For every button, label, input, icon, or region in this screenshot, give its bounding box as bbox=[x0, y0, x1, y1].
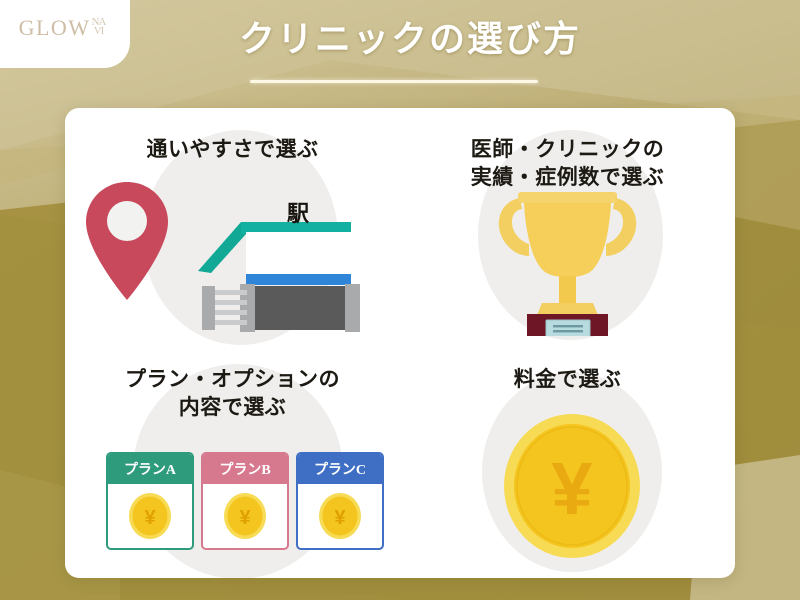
panel-plan-options-title: プラン・オプションの 内容で選ぶ bbox=[65, 366, 400, 421]
plan-card-b[interactable]: プランB ¥ bbox=[201, 452, 289, 550]
plan-card-c-label: プランC bbox=[298, 454, 382, 484]
station-sign-label: 駅 bbox=[287, 196, 309, 228]
svg-text:¥: ¥ bbox=[334, 507, 346, 529]
plan-card-c[interactable]: プランC ¥ bbox=[296, 452, 384, 550]
content-card: 通いやすさで選ぶ bbox=[65, 108, 735, 578]
plan-card-a-coin: ¥ bbox=[108, 484, 192, 548]
station-building-icon bbox=[198, 222, 360, 332]
plan-card-b-coin: ¥ bbox=[203, 484, 287, 548]
panel-accessibility: 通いやすさで選ぶ bbox=[65, 108, 400, 348]
map-pin-and-station-icon: 駅 bbox=[65, 174, 400, 334]
plan-card-b-label: プランB bbox=[203, 454, 287, 484]
panel-title-line: 医師・クリニックの bbox=[400, 136, 735, 164]
trophy-icon bbox=[400, 186, 735, 336]
yen-coin-icon: ¥ bbox=[317, 491, 363, 541]
yen-coin-icon: ¥ bbox=[400, 408, 735, 568]
svg-text:¥: ¥ bbox=[144, 507, 156, 529]
panel-title-line: 料金で選ぶ bbox=[400, 366, 735, 394]
yen-coin-icon: ¥ bbox=[222, 491, 268, 541]
page-title: クリニックの選び方 bbox=[200, 20, 620, 60]
panel-title-line: 通いやすさで選ぶ bbox=[65, 136, 400, 164]
plan-card-a[interactable]: プランA ¥ bbox=[106, 452, 194, 550]
svg-text:¥: ¥ bbox=[551, 447, 592, 530]
plan-cards-icon: プランA ¥ プランB ¥ bbox=[106, 452, 384, 550]
plan-card-a-label: プランA bbox=[108, 454, 192, 484]
yen-coin-icon: ¥ bbox=[127, 491, 173, 541]
plan-card-c-coin: ¥ bbox=[298, 484, 382, 548]
panel-title-line: プラン・オプションの bbox=[65, 366, 400, 394]
logo: GLOW NA VI bbox=[5, 9, 106, 39]
panel-price-title: 料金で選ぶ bbox=[400, 366, 735, 394]
panel-plan-options: プラン・オプションの 内容で選ぶ プランA ¥ プランB bbox=[65, 348, 400, 578]
svg-text:¥: ¥ bbox=[239, 507, 251, 529]
panel-doctor-record: 医師・クリニックの 実績・症例数で選ぶ bbox=[400, 108, 735, 348]
logo-text: GLOW bbox=[19, 17, 91, 39]
panel-price: 料金で選ぶ ¥ bbox=[400, 348, 735, 578]
panel-doctor-record-title: 医師・クリニックの 実績・症例数で選ぶ bbox=[400, 136, 735, 191]
title-underline bbox=[250, 80, 538, 83]
panel-accessibility-title: 通いやすさで選ぶ bbox=[65, 136, 400, 164]
logo-mark-bottom: VI bbox=[92, 27, 106, 36]
logo-plate[interactable]: GLOW NA VI bbox=[0, 0, 130, 68]
panel-title-line: 内容で選ぶ bbox=[65, 394, 400, 422]
logo-mark-icon: NA VI bbox=[92, 18, 106, 37]
map-pin-icon bbox=[86, 182, 168, 300]
